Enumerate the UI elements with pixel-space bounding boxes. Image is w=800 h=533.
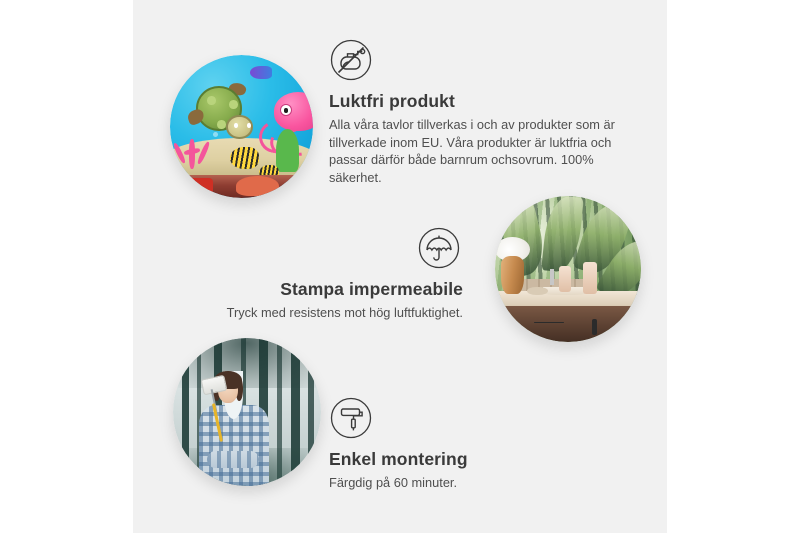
yellow-fish-icon <box>230 147 259 170</box>
bottle <box>559 266 571 292</box>
product-image-installer[interactable] <box>173 338 321 486</box>
door-handle <box>622 319 627 336</box>
door-handle <box>592 319 597 336</box>
person <box>194 371 274 486</box>
feature-description: Tryck med resistens mot hög luftfuktighe… <box>173 304 463 322</box>
feature-waterproof: Stampa impermeabile Tryck med resistens … <box>173 226 463 322</box>
no-spray-bottle-icon <box>329 38 373 82</box>
faucet <box>550 269 554 285</box>
bathroom-scene <box>495 196 641 342</box>
purple-fish-icon <box>250 66 271 79</box>
product-image-aquarium[interactable] <box>170 55 313 198</box>
turtle-eye <box>235 124 237 126</box>
installer-scene <box>173 338 321 486</box>
vase <box>501 256 524 294</box>
feature-title: Stampa impermeabile <box>173 279 463 300</box>
paint-roller-icon <box>329 396 373 440</box>
feature-odourless: Luktfri produkt Alla våra tavlor tillver… <box>329 38 621 187</box>
aquarium-scene <box>170 55 313 198</box>
coral-branch <box>197 141 212 165</box>
octopus-eye <box>280 104 292 116</box>
feature-description: Färgdig på 60 minuter. <box>329 474 619 492</box>
content-panel: Luktfri produkt Alla våra tavlor tillver… <box>133 0 667 533</box>
umbrella-icon <box>417 226 461 270</box>
feature-title: Luktfri produkt <box>329 91 621 112</box>
feature-title: Enkel montering <box>329 449 619 470</box>
feature-assembly: Enkel montering Färgdig på 60 minuter. <box>329 396 619 492</box>
seagrass <box>276 129 299 172</box>
vanity-cabinet <box>504 306 641 343</box>
foreground-strip <box>170 175 313 198</box>
drawer-handle <box>534 322 564 323</box>
screenshot-root: Luktfri produkt Alla våra tavlor tillver… <box>0 0 800 533</box>
octopus-head <box>274 92 313 130</box>
coral <box>173 127 219 170</box>
soap-dish <box>527 287 547 296</box>
product-image-bathroom[interactable] <box>495 196 641 342</box>
feature-description: Alla våra tavlor tillverkas i och av pro… <box>329 116 621 187</box>
bottle <box>583 262 598 294</box>
turtle-head <box>226 115 252 139</box>
crossed-arms <box>207 451 260 467</box>
